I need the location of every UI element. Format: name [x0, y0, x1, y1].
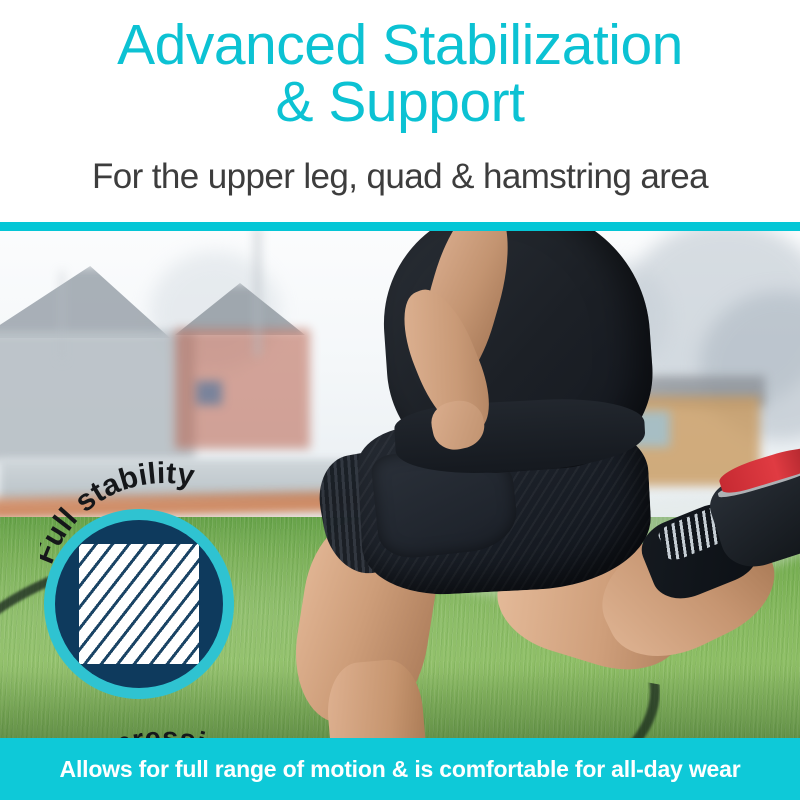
- product-feature-graphic: Advanced Stabilization & Support For the…: [0, 0, 800, 800]
- teal-divider: [0, 222, 800, 231]
- bottom-banner: Allows for full range of motion & is com…: [0, 738, 800, 800]
- weave-diagonal-lines: [69, 534, 209, 674]
- hero-photo: Full stability: [0, 231, 800, 738]
- page-title: Advanced Stabilization & Support: [0, 17, 800, 131]
- curved-text-360-compression: 360° Compression: [10, 705, 300, 738]
- svg-text:360° Compression: 360° Compression: [10, 722, 246, 738]
- fabric-weave-icon: [79, 544, 199, 664]
- header-block: Advanced Stabilization & Support For the…: [0, 0, 800, 222]
- page-subtitle: For the upper leg, quad & hamstring area: [0, 157, 800, 197]
- banner-text: Allows for full range of motion & is com…: [60, 756, 741, 783]
- badge-ring-1: [44, 509, 234, 699]
- badge-360-compression-label: 360° Compression: [10, 705, 300, 738]
- badge-inner-1: [55, 520, 223, 688]
- badge-full-stability: Full stability: [44, 509, 234, 699]
- badge-label-text-2: 360° Compression: [10, 722, 246, 738]
